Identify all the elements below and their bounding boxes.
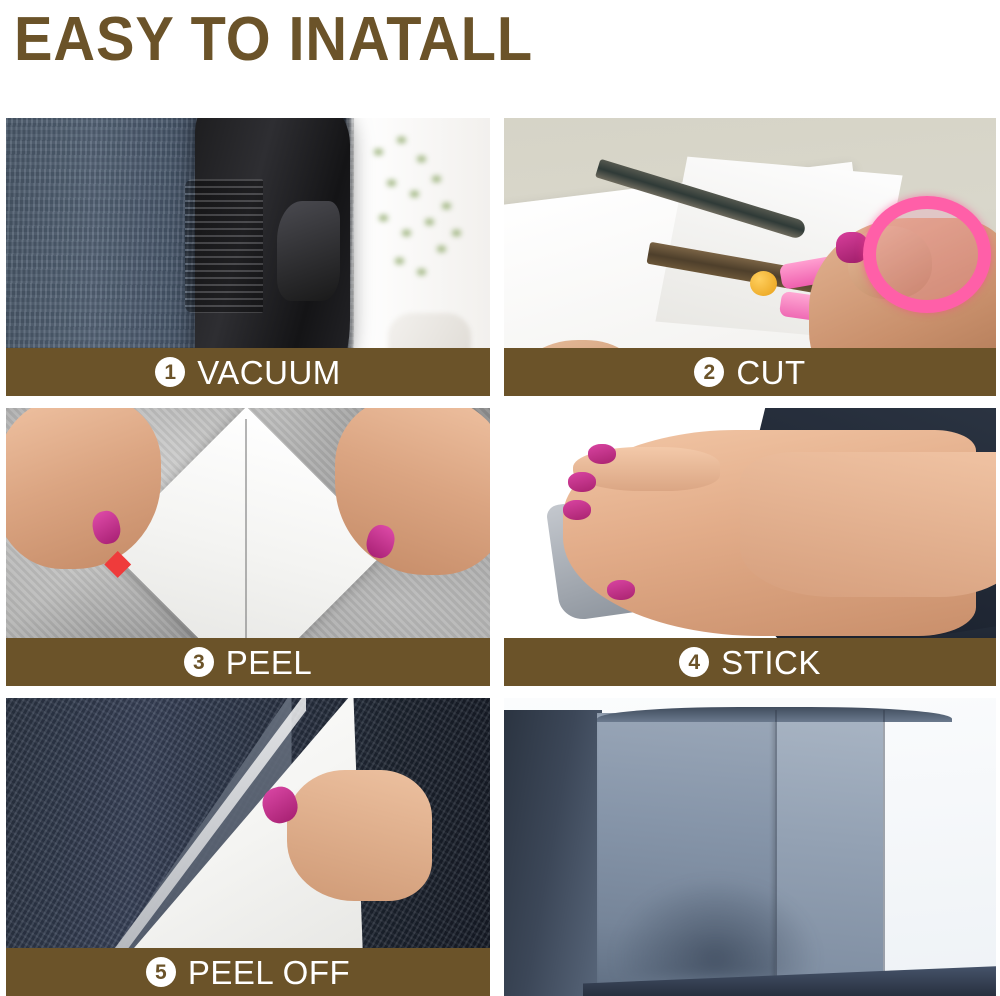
step-number-badge: 1 — [155, 357, 185, 387]
step-label-bar-3: 3 PEEL — [6, 638, 490, 686]
step-number-badge: 3 — [184, 647, 214, 677]
step-number-badge: 5 — [146, 957, 176, 987]
step-label-bar-4: 4 STICK — [504, 638, 996, 686]
scissor-ring-handle — [863, 196, 991, 313]
step-label-bar-5: 5 PEEL OFF — [6, 948, 490, 996]
step-number-badge: 4 — [679, 647, 709, 677]
step-label-text: VACUUM — [197, 356, 341, 389]
step-panel-5[interactable]: 5 PEEL OFF — [6, 698, 490, 996]
step-panel-4[interactable]: 4 STICK — [504, 408, 996, 686]
scissor-pivot-screw — [750, 271, 777, 296]
step-panel-2[interactable]: 2 CUT — [504, 118, 996, 396]
steps-grid: 1 VACUUM 2 — [6, 118, 996, 996]
step-number-badge: 2 — [694, 357, 724, 387]
step-label-text: PEEL OFF — [188, 956, 350, 989]
step-label-text: CUT — [736, 356, 805, 389]
step-panel-3[interactable]: 3 PEEL — [6, 408, 490, 686]
step-panel-1[interactable]: 1 VACUUM — [6, 118, 490, 396]
step-panel-6-result[interactable] — [504, 698, 996, 996]
step-label-text: STICK — [721, 646, 821, 679]
step-image-result — [504, 698, 996, 996]
step-label-text: PEEL — [226, 646, 312, 679]
plant-decoration — [359, 129, 485, 324]
infographic-page: EASY TO INATALL — [0, 0, 1000, 996]
page-title: EASY TO INATALL — [14, 4, 665, 76]
step-label-bar-1: 1 VACUUM — [6, 348, 490, 396]
step-label-bar-2: 2 CUT — [504, 348, 996, 396]
